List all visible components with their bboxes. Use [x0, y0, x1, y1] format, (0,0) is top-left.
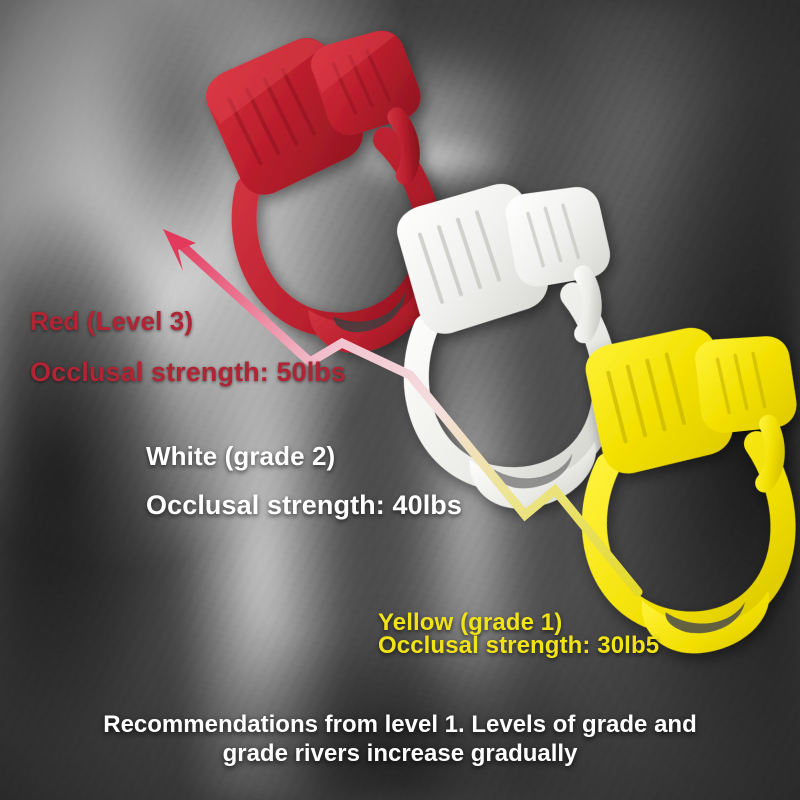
caption-line-1: Recommendations from level 1. Levels of …: [103, 711, 697, 738]
white-level-title: White (grade 2): [146, 441, 335, 472]
infographic-poster: Red (Level 3) Occlusal strength: 50lbs W…: [0, 0, 800, 800]
bottom-caption: Recommendations from level 1. Levels of …: [0, 710, 800, 768]
caption-line-2: grade rivers increase gradually: [223, 740, 578, 767]
yellow-strength-text: Occlusal strength: 30lb5: [378, 632, 659, 660]
graphics-overlay: [0, 0, 800, 800]
product-yellow-jaw-exerciser: [574, 318, 800, 663]
white-strength-text: Occlusal strength: 40lbs: [146, 490, 462, 521]
red-level-title: Red (Level 3): [30, 306, 193, 337]
yellow-bite-pad: [693, 332, 799, 436]
red-strength-text: Occlusal strength: 50lbs: [30, 357, 346, 388]
upward-trend-arrow: [163, 229, 638, 592]
white-bite-pad: [503, 181, 614, 290]
